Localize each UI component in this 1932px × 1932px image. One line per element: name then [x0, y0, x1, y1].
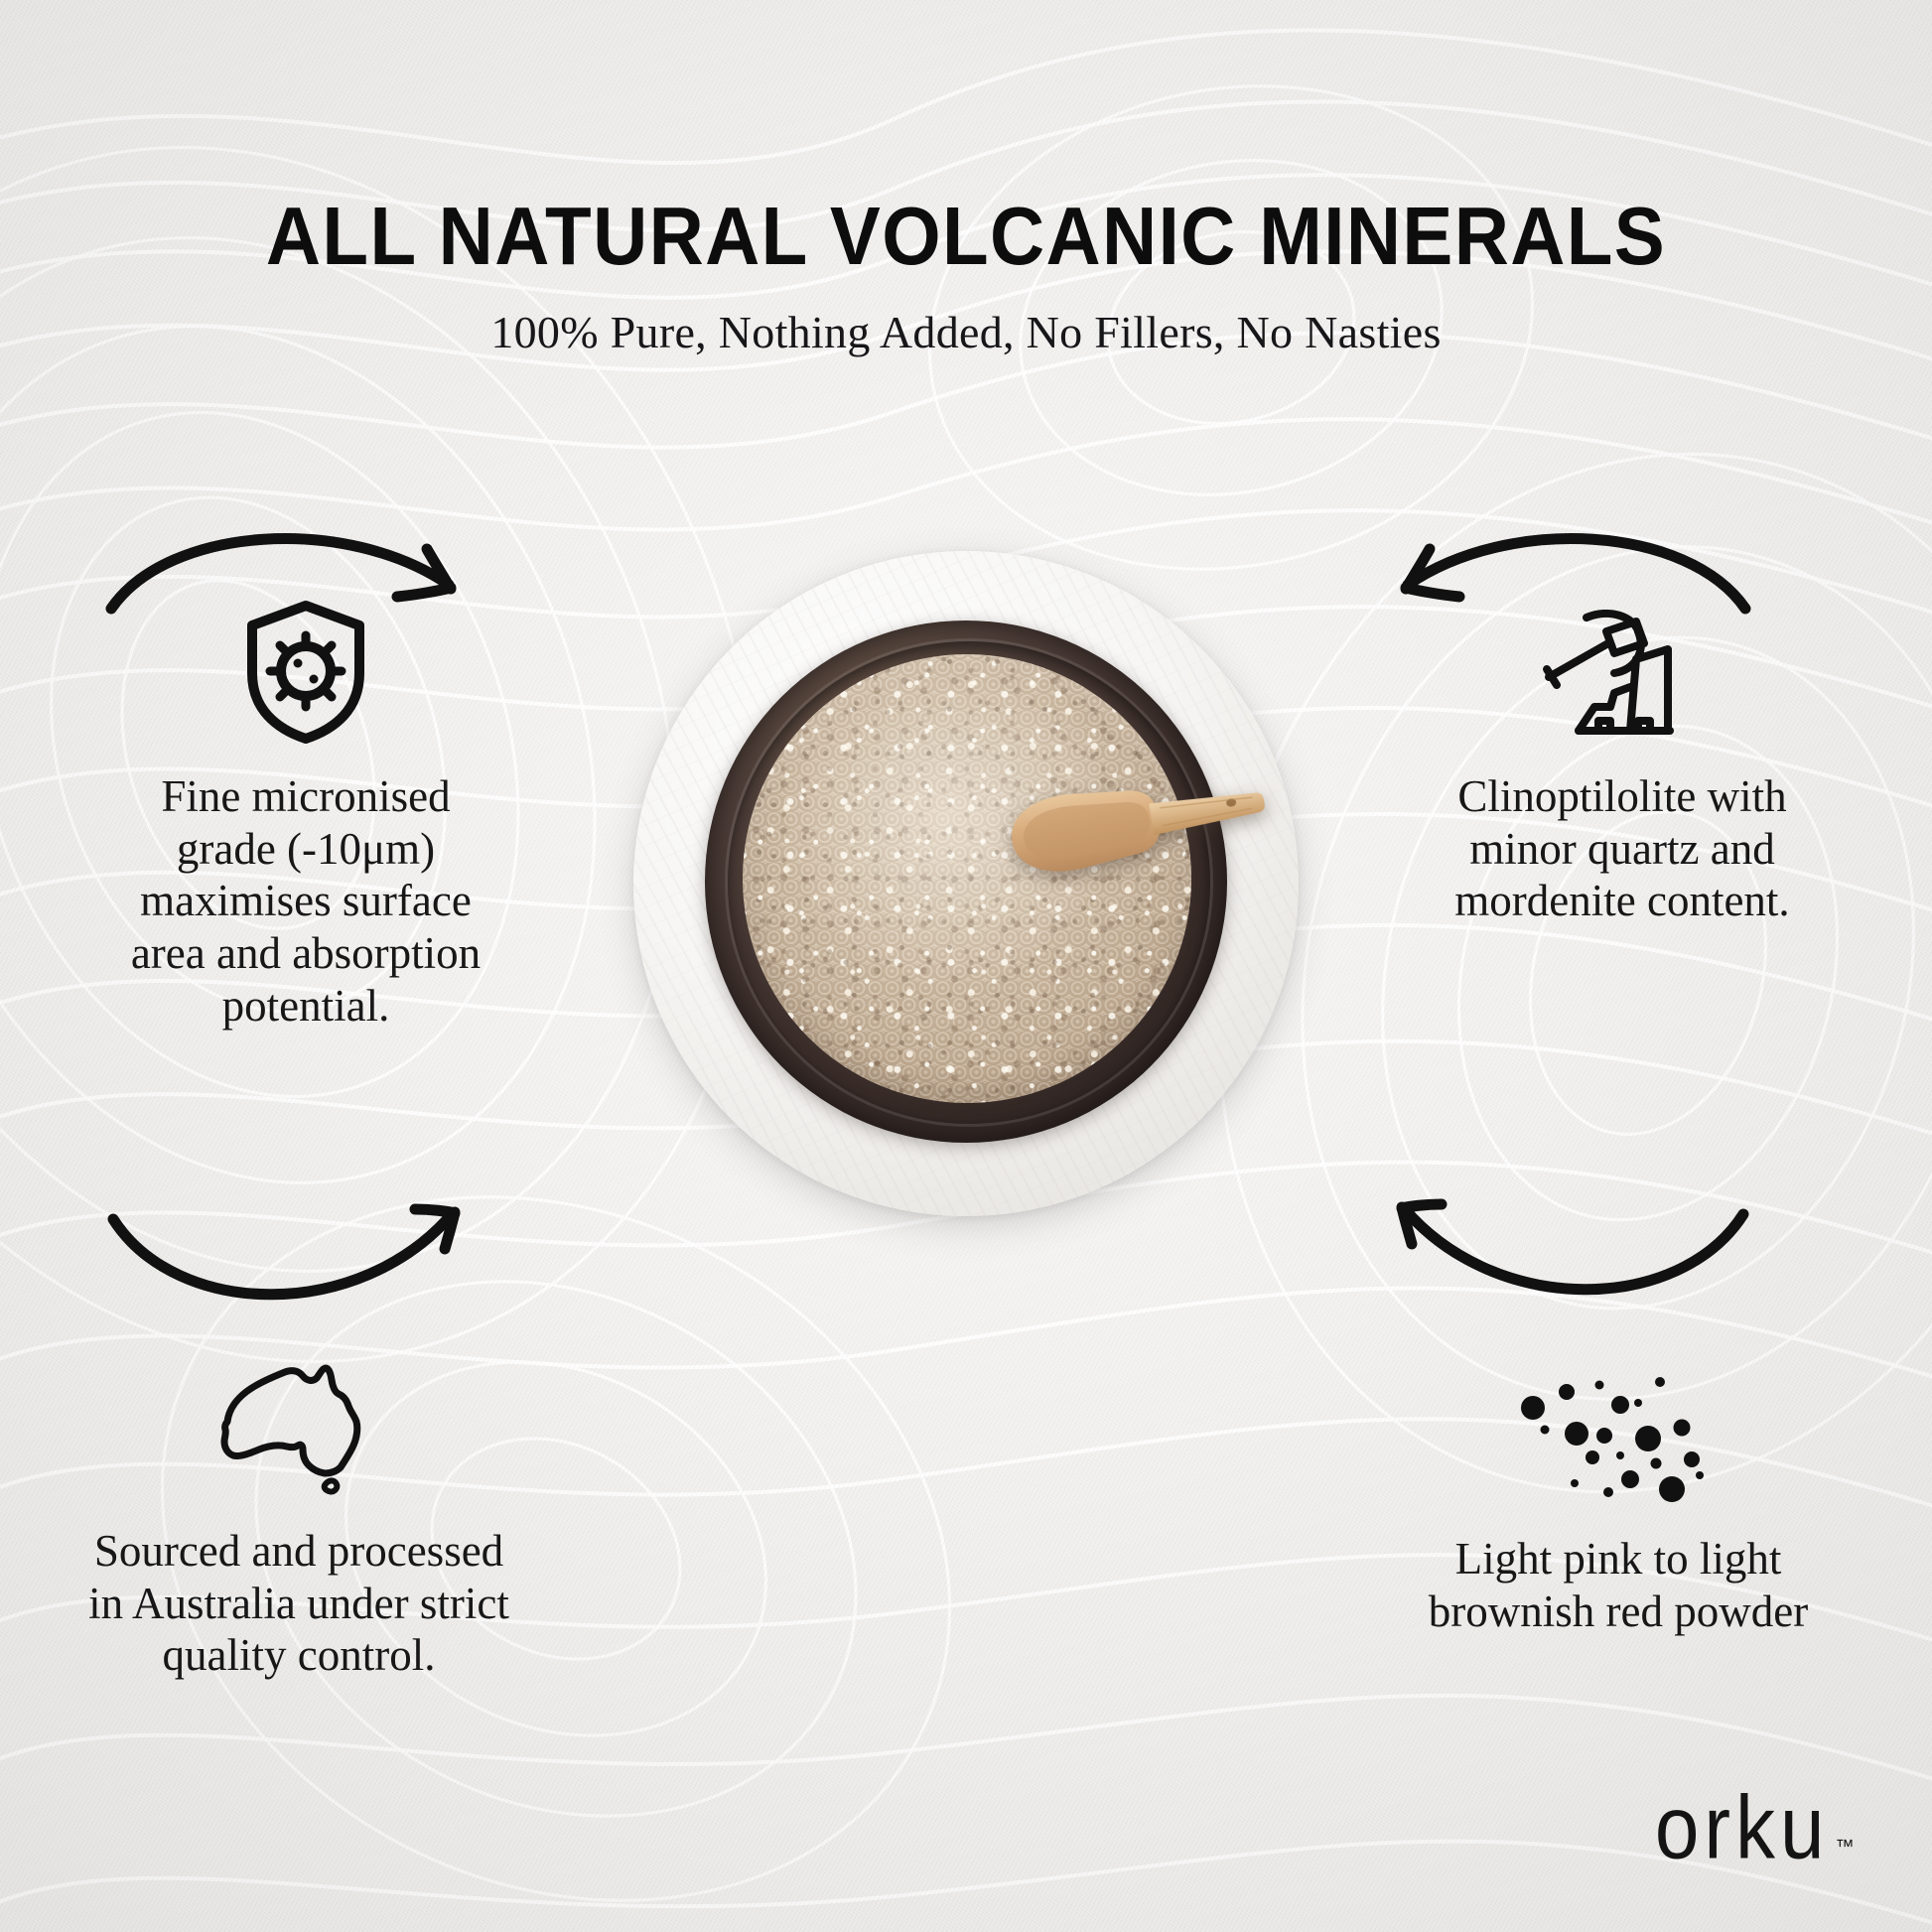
feature-caption: Clinoptilolite with minor quartz and mor…: [1424, 770, 1821, 927]
pickaxe-mining-icon: [1539, 604, 1706, 745]
feature-fine-micronised-grade: Fine micronised grade (-10μm) maximises …: [77, 596, 534, 1032]
shield-germ-icon: [242, 600, 369, 745]
powder-particles-icon: [1515, 1372, 1722, 1507]
icon-container: [1394, 596, 1851, 745]
curved-arrow-up-left-icon: [1360, 1186, 1757, 1335]
feature-caption: Fine micronised grade (-10μm) maximises …: [111, 770, 500, 1032]
brand-wordmark: orku: [1655, 1786, 1830, 1870]
feature-caption: Light pink to light brownish red powder: [1426, 1533, 1811, 1637]
australia-map-icon: [204, 1350, 388, 1499]
mineral-powder: [743, 654, 1191, 1103]
brand-logo[interactable]: orku ™: [1655, 1795, 1855, 1870]
curved-arrow-up-right-icon: [99, 1191, 496, 1340]
ceramic-bowl: [705, 621, 1227, 1143]
feature-sourced-in-australia: Sourced and processed in Australia under…: [68, 1350, 524, 1682]
product-photo: [633, 551, 1299, 1216]
icon-container: [68, 1350, 524, 1499]
page-subtitle: 100% Pure, Nothing Added, No Fillers, No…: [0, 306, 1932, 358]
header: ALL NATURAL VOLCANIC MINERALS 100% Pure,…: [0, 189, 1932, 358]
icon-container: [1390, 1358, 1847, 1507]
trademark-symbol: ™: [1836, 1837, 1856, 1859]
feature-powder-colour: Light pink to light brownish red powder: [1390, 1358, 1847, 1637]
page-title: ALL NATURAL VOLCANIC MINERALS: [77, 189, 1855, 284]
feature-caption: Sourced and processed in Australia under…: [85, 1525, 512, 1682]
infographic-canvas: ALL NATURAL VOLCANIC MINERALS 100% Pure,…: [0, 0, 1932, 1932]
feature-clinoptilolite-composition: Clinoptilolite with minor quartz and mor…: [1394, 596, 1851, 927]
icon-container: [77, 596, 534, 745]
